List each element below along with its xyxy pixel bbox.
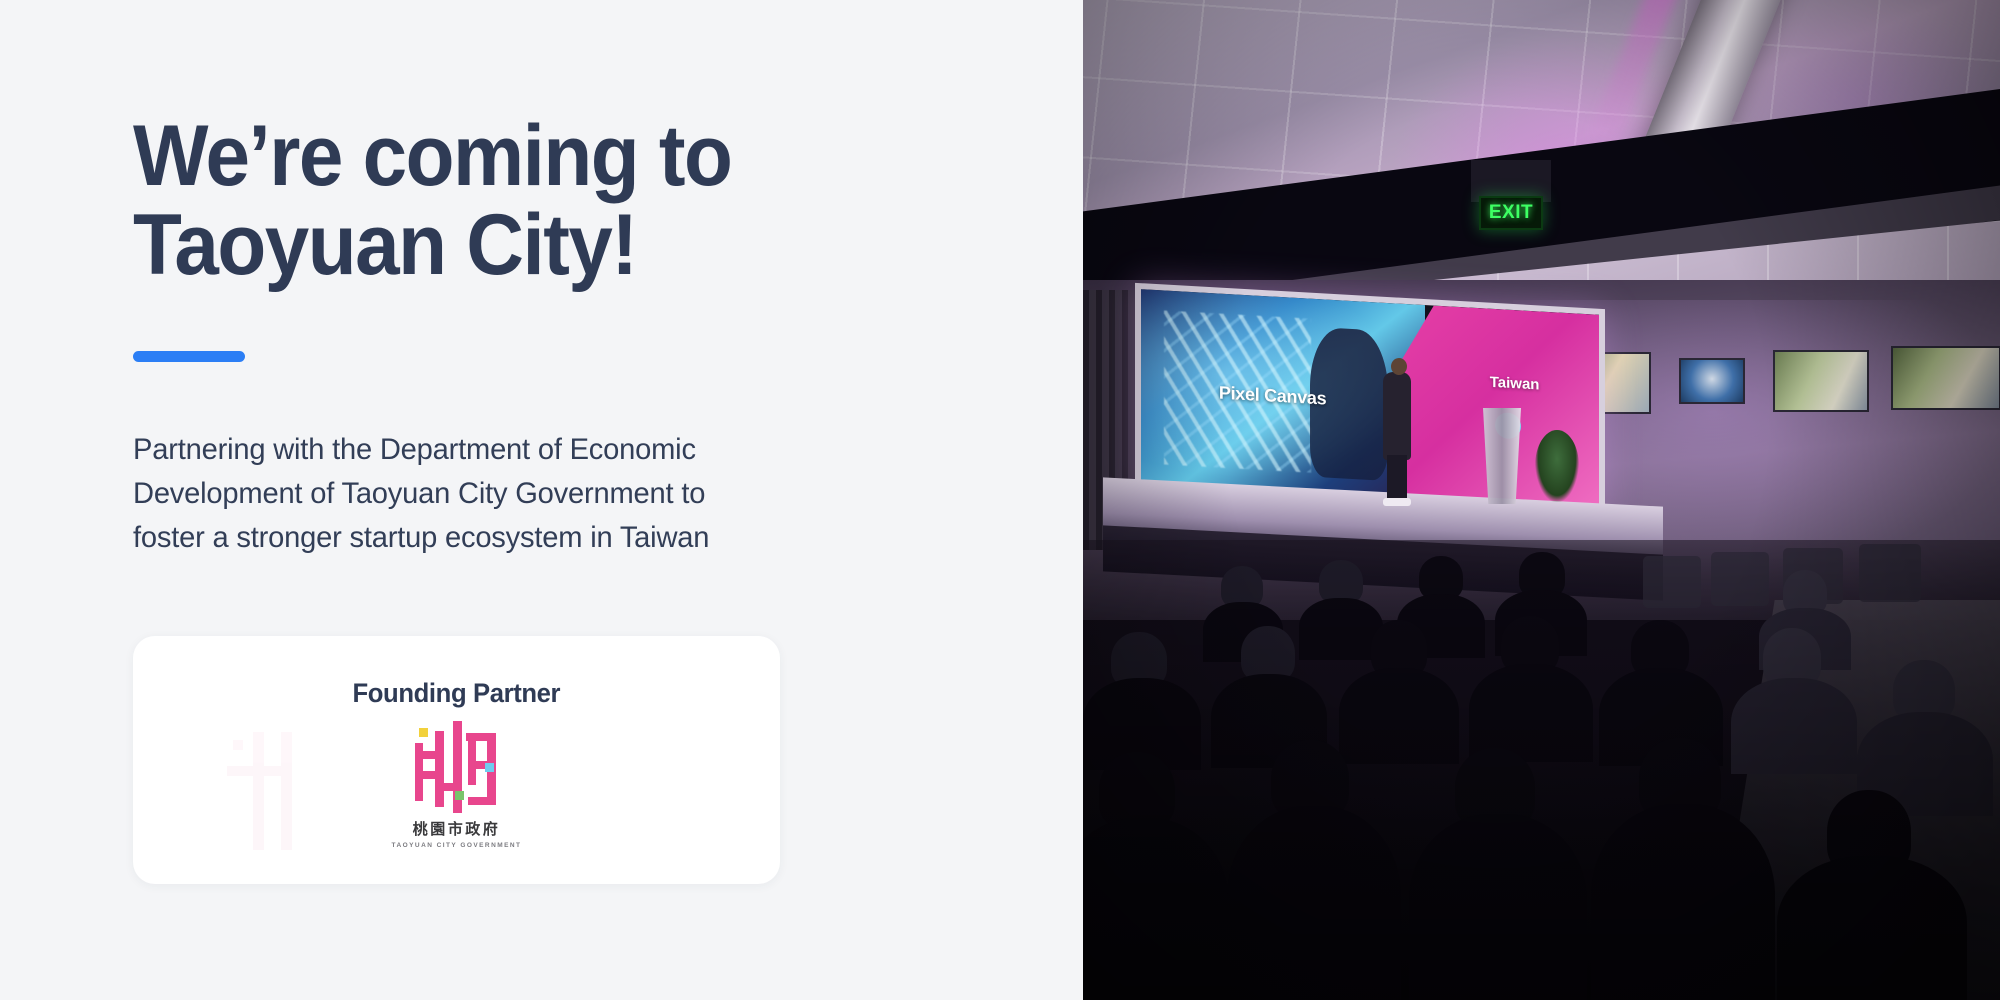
speaker-legs [1387,455,1407,503]
left-content-panel: We’re coming to Taoyuan City! Partnering… [0,0,1083,1000]
audience-shoulders [1777,856,1967,1000]
logo-name-english: TAOYUAN CITY GOVERNMENT [392,842,522,849]
audience-shoulders [1731,678,1857,774]
audience-shoulders [1469,664,1593,762]
logo-name-chinese: 桃園市政府 [413,822,501,837]
exit-sign: EXIT [1479,196,1543,230]
subtitle-line-3: foster a stronger startup ecosystem in T… [133,516,812,560]
founding-partner-card: Founding Partner [133,636,780,884]
headline-line-2: Taoyuan City! [133,201,970,290]
wall-monitor-2 [1679,358,1745,404]
partner-logo: 桃園市政府 TAOYUAN CITY GOVERNMENT [392,721,522,849]
chair-back [1643,556,1701,608]
speaker-shoes [1383,498,1411,506]
taoyuan-city-government-logo-icon [411,721,503,813]
audience-shoulders [1227,806,1401,1000]
card-watermark [219,732,347,860]
announcement-banner: We’re coming to Taoyuan City! Partnering… [0,0,2000,1000]
slide-title-right: Taiwan [1490,374,1540,394]
subtitle-line-2: Development of Taoyuan City Government t… [133,472,812,516]
audience-shoulders [1591,804,1775,1000]
audience-shoulders [1083,818,1229,1000]
audience-shoulders [1339,668,1459,764]
accent-divider-bar [133,351,245,362]
projection-screen: Pixel Canvas Taiwan [1141,289,1599,513]
wall-monitor-4 [1891,346,2000,410]
conference-audience-photo: EXIT Pixel Canvas Taiwan [1083,0,2000,1000]
subtitle-paragraph: Partnering with the Department of Econom… [133,428,812,559]
podium [1483,408,1521,504]
speaker-head [1391,358,1407,375]
wall-monitor-3 [1773,350,1869,412]
stage-plant [1535,430,1579,502]
headline-line-1: We’re coming to [133,112,970,201]
page-title: We’re coming to Taoyuan City! [133,112,970,289]
chair-back [1711,552,1769,606]
partner-card-title: Founding Partner [353,678,561,709]
subtitle-line-1: Partnering with the Department of Econom… [133,428,812,472]
speaker-torso [1383,372,1411,460]
exit-sign-label: EXIT [1489,202,1533,224]
audience-shoulders [1409,814,1587,1000]
chair-back [1859,544,1921,602]
